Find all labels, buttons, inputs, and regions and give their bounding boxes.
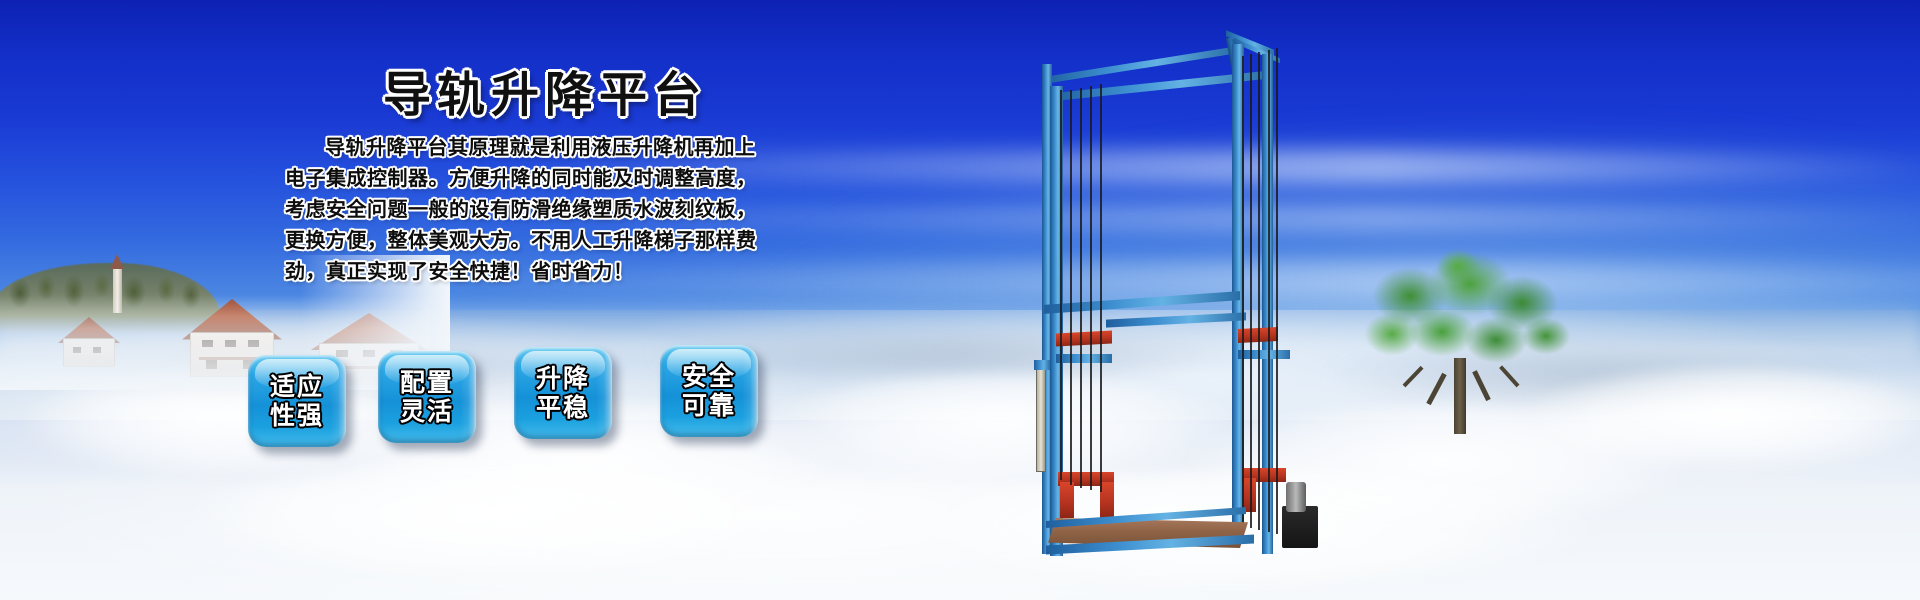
lift-cable — [1060, 90, 1062, 480]
cloud-puff-6 — [180, 460, 800, 580]
feature-button-configuration[interactable]: 配置 灵活 — [378, 351, 476, 443]
feature-button-label: 安全 可靠 — [660, 345, 758, 437]
guide-rail-lift-platform-image — [1020, 20, 1340, 580]
control-box-mount — [1034, 360, 1050, 370]
feature-label-line2: 可靠 — [682, 391, 736, 420]
feature-label-line2: 平稳 — [536, 393, 590, 422]
banner-description: 导轨升降平台其原理就是利用液压升降机再加上电子集成控制器。方便升降的同时能及时调… — [285, 132, 765, 287]
hydraulic-motor — [1286, 482, 1306, 512]
mid-beam-front — [1106, 312, 1246, 327]
lift-cable — [1080, 88, 1082, 488]
product-banner: 导轨升降平台 导轨升降平台其原理就是利用液压升降机再加上电子集成控制器。方便升降… — [0, 0, 1920, 600]
feature-label-line2: 灵活 — [400, 397, 454, 426]
tree-canopy — [1350, 248, 1580, 383]
lift-cable — [1070, 90, 1072, 485]
feature-button-label: 配置 灵活 — [378, 351, 476, 443]
feature-button-smooth-lifting[interactable]: 升降 平稳 — [514, 347, 612, 439]
feature-label-line2: 性强 — [270, 401, 324, 430]
cloud-puff-5 — [1520, 368, 1920, 472]
lift-cable — [1258, 52, 1260, 530]
feature-label-line1: 升降 — [536, 364, 590, 393]
feature-label-line1: 配置 — [400, 368, 454, 397]
carriage-beam-red-left — [1056, 331, 1112, 347]
lift-cable — [1242, 56, 1244, 526]
lift-cable — [1100, 84, 1102, 492]
lift-cable — [1268, 50, 1270, 532]
feature-button-adaptability[interactable]: 适应 性强 — [248, 355, 346, 447]
lower-red-post-left — [1060, 482, 1074, 518]
control-box — [1036, 368, 1046, 472]
feature-button-safety[interactable]: 安全 可靠 — [660, 345, 758, 437]
tree-scene — [1350, 248, 1580, 438]
lift-cable — [1250, 54, 1252, 528]
feature-label-line1: 安全 — [682, 362, 736, 391]
banner-title: 导轨升降平台 — [383, 55, 707, 125]
feature-label-line1: 适应 — [270, 372, 324, 401]
carriage-blue-left — [1056, 354, 1112, 363]
lift-cable — [1276, 48, 1278, 534]
lift-cable — [1090, 86, 1092, 490]
carriage-blue-right — [1238, 350, 1290, 359]
mid-beam-rear — [1044, 291, 1240, 314]
feature-button-label: 适应 性强 — [248, 355, 346, 447]
hydraulic-power-unit — [1282, 506, 1318, 548]
feature-button-row: 适应 性强 配置 灵活 升降 平稳 安全 可靠 — [248, 345, 788, 455]
lower-red-post-right — [1100, 482, 1114, 518]
feature-button-label: 升降 平稳 — [514, 347, 612, 439]
